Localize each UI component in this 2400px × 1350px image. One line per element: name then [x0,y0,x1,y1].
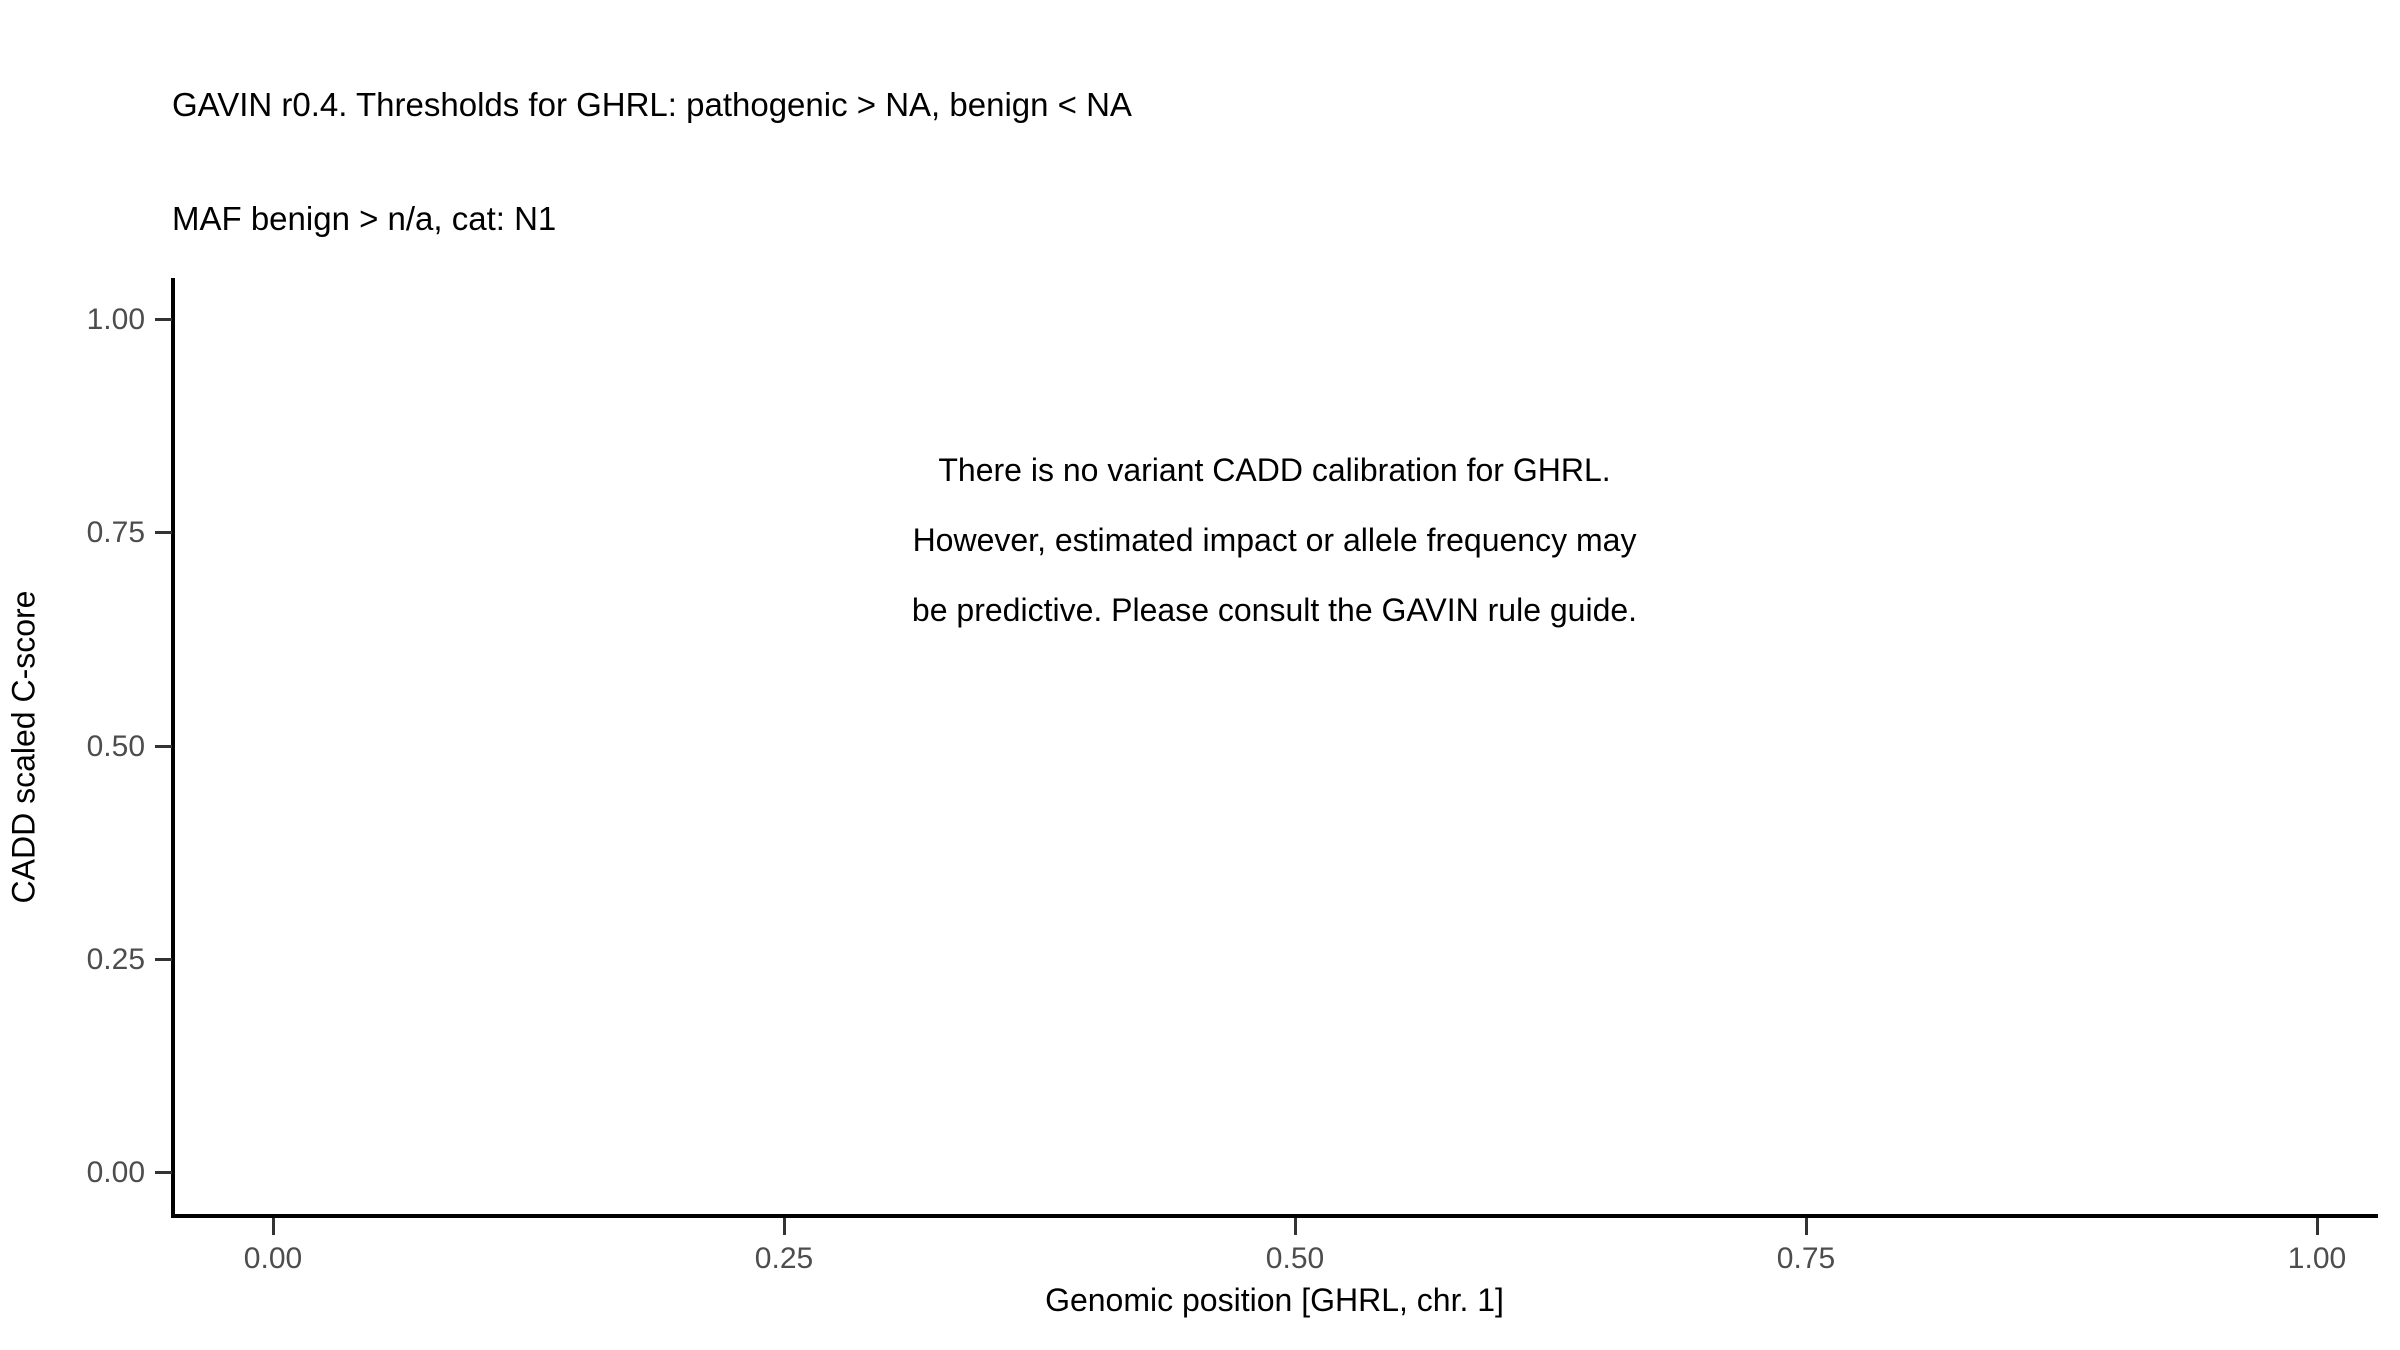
plot-panel [171,278,2378,1215]
plot-title-line-2: MAF benign > n/a, cat: N1 [172,200,1222,238]
x-tick-mark-0-50 [1294,1218,1297,1235]
x-axis-title: Genomic position [GHRL, chr. 1] [171,1282,2378,1319]
y-tick-mark-0-50 [155,745,172,748]
y-axis-title: CADD scaled C-score [6,590,43,903]
panel-message-line-1: There is no variant CADD calibration for… [171,435,2378,505]
x-tick-label-0-25: 0.25 [704,1242,864,1276]
x-tick-label-0-75: 0.75 [1726,1242,1886,1276]
x-tick-label-1-00: 1.00 [2237,1242,2397,1276]
panel-message-line-3: be predictive. Please consult the GAVIN … [171,575,2378,645]
y-tick-mark-1-00 [155,318,172,321]
panel-message: There is no variant CADD calibration for… [171,435,2378,645]
y-axis-title-wrapper: CADD scaled C-score [0,278,48,1215]
y-tick-mark-0-00 [155,1171,172,1174]
x-tick-label-0-00: 0.00 [193,1242,353,1276]
y-tick-mark-0-25 [155,958,172,961]
panel-message-line-2: However, estimated impact or allele freq… [171,505,2378,575]
plot-title-line-1: GAVIN r0.4. Thresholds for GHRL: pathoge… [172,86,1222,124]
x-tick-label-0-50: 0.50 [1215,1242,1375,1276]
x-tick-mark-1-00 [2316,1218,2319,1235]
y-axis-line [171,278,175,1218]
y-tick-mark-0-75 [155,531,172,534]
x-tick-mark-0-25 [783,1218,786,1235]
x-tick-mark-0-00 [272,1218,275,1235]
x-tick-mark-0-75 [1805,1218,1808,1235]
x-axis-line [171,1214,2378,1218]
